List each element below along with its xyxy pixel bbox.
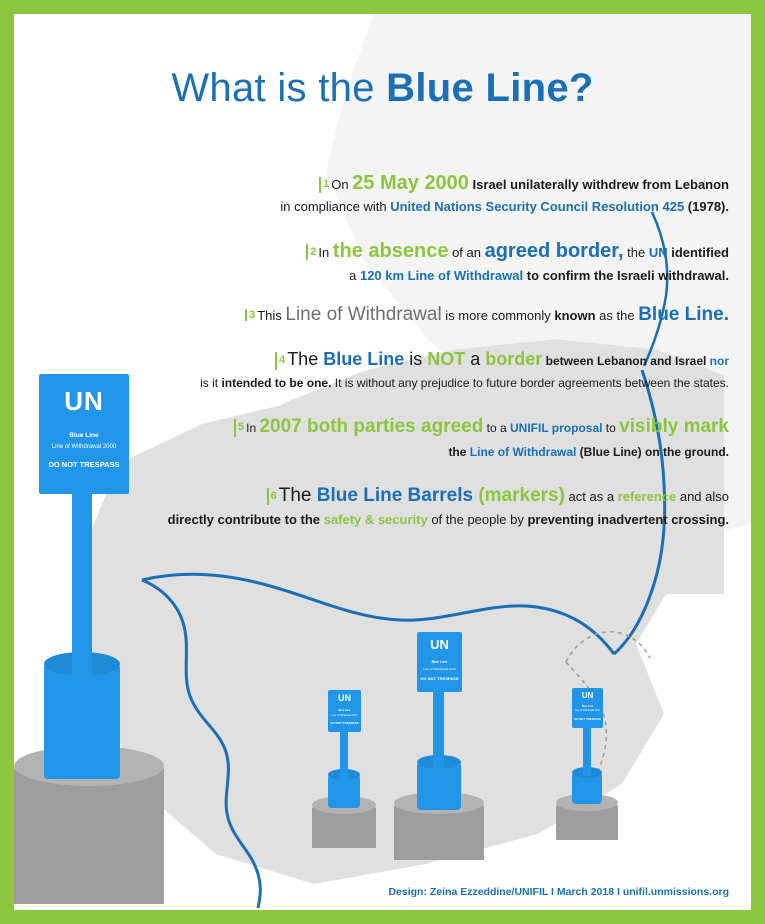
fact-3-a: This [257,308,285,323]
fact-number-5: 5 [234,419,244,437]
barrel-small-right-line3: DO NOT TRESPASS [572,717,603,721]
barrel-large-un-label: UN [39,386,129,417]
fact-6-preventing: preventing inadvertent crossing. [527,512,729,527]
barrel-large-sign: UN Blue Line Line of Withdrawal 2000 DO … [39,374,129,494]
fact-4-line1-a: The [287,349,323,369]
fact-6-line1-b: act as a [565,489,618,504]
fact-4-nor: nor [710,354,729,368]
barrel-small-left-un-label: UN [328,693,361,703]
fact-1-line2-b: (1978). [684,199,729,214]
fact-6-barrels: Blue Line Barrels [317,485,473,506]
fact-5-agreement: 2007 both parties agreed [259,416,483,437]
fact-4-not: NOT [427,349,465,369]
fact-number-4: 4 [275,352,285,370]
barrel-large-line3: DO NOT TRESPASS [39,460,129,469]
fact-4-blue-line: Blue Line [323,349,404,369]
fact-1-resolution: United Nations Security Council Resoluti… [390,199,684,214]
fact-item-1: 1On 25 May 2000 Israel unilaterally with… [164,169,729,217]
barrel-small-right-line2: Line of Withdrawal 2000 [572,710,603,712]
fact-5-line1-b: to a [483,421,510,435]
barrel-small-left-line1: Blue Line [328,709,361,712]
barrel-medium-drum [417,762,461,810]
barrel-large-line2: Line of Withdrawal 2000 [39,444,129,450]
fact-3-c: as the [596,308,639,323]
fact-item-4: 4The Blue Line is NOT a border between L… [164,345,729,393]
fact-2-absence: the absence [333,240,449,262]
barrel-small-right-un-label: UN [572,691,603,700]
fact-item-5: 5In 2007 both parties agreed to a UNIFIL… [164,412,729,462]
fact-5-line1-a: In [246,421,259,435]
barrel-small-left-line2: Line of Withdrawal 2000 [328,714,361,717]
fact-3-known: known [554,308,595,323]
barrel-small-right: UN Blue Line Line of Withdrawal 2000 DO … [544,674,634,854]
fact-3-line-of-withdrawal: Line of Withdrawal [285,304,441,325]
fact-4-border: border [485,349,542,369]
fact-item-6: 6The Blue Line Barrels (markers) act as … [164,481,729,531]
poster-canvas: What is the Blue Line? 1On 25 May 2000 I… [14,14,751,910]
barrel-medium: UN Blue Line Line of Withdrawal 2000 DO … [384,614,494,864]
fact-6-line1-c: and also [676,489,729,504]
fact-6-line2-b: of the people by [428,512,528,527]
page-title: What is the Blue Line? [14,66,751,111]
barrel-large: UN Blue Line Line of Withdrawal 2000 DO … [14,364,184,904]
fact-4-line1-c: a [465,349,485,369]
fact-list: 1On 25 May 2000 Israel unilaterally with… [164,169,729,549]
fact-6-line2-a: directly contribute to the [168,512,324,527]
fact-1-date: 25 May 2000 [352,172,469,194]
fact-5-line-of-withdrawal: Line of Withdrawal [470,445,577,459]
barrel-medium-post [433,684,444,769]
fact-number-2: 2 [306,244,316,261]
fact-5-visibly-mark: visibly mark [619,416,729,437]
fact-2-distance: 120 km Line of Withdrawal [360,268,523,283]
barrel-medium-line2: Line of Withdrawal 2000 [417,667,462,671]
fact-2-agreed-border: agreed border, [485,240,624,262]
fact-6-markers: (markers) [478,485,565,506]
fact-5-line2-a: the [448,445,469,459]
fact-4-line1-b: is [404,349,427,369]
barrel-small-right-post [583,726,591,776]
fact-2-line1-c: the [624,245,649,260]
barrel-small-left: UN Blue Line Line of Withdrawal 2000 DO … [304,676,384,866]
fact-2-line1-b: of an [448,245,484,260]
barrel-small-left-line3: DO NOT TRESPASS [328,721,361,725]
fact-2-un: UN [649,245,668,260]
fact-6-reference: reference [618,489,677,504]
fact-1-line2-a: in compliance with [280,199,390,214]
barrel-small-left-sign: UN Blue Line Line of Withdrawal 2000 DO … [328,690,361,732]
barrel-medium-line1: Blue Line [417,660,462,664]
fact-4-line2-a: is it [200,376,221,390]
barrel-small-right-line1: Blue Line [572,705,603,708]
fact-2-line2-a: a [349,268,360,283]
barrel-medium-line3: DO NOT TRESPASS [417,676,462,681]
fact-2-line1-d: identified [668,245,729,260]
fact-5-unifil-proposal: UNIFIL proposal [510,421,602,435]
fact-5-line2-b: (Blue Line) on the ground. [576,445,729,459]
fact-number-3: 3 [245,309,255,321]
fact-6-safety: safety & security [324,512,428,527]
barrel-large-drum [44,664,120,779]
barrel-large-line1: Blue Line [39,432,129,439]
barrel-small-left-post [340,728,348,780]
barrel-medium-sign: UN Blue Line Line of Withdrawal 2000 DO … [417,632,462,692]
fact-4-intended: intended to be one. [221,376,331,390]
fact-2-line2-b: to confirm the Israeli withdrawal. [523,268,729,283]
fact-1-line1-b: Israel unilaterally withdrew from Lebano… [469,177,729,192]
fact-4-line2-b: It is without any prejudice to future bo… [331,376,729,390]
fact-6-line1-a: The [279,485,317,506]
barrel-small-right-sign: UN Blue Line Line of Withdrawal 2000 DO … [572,688,603,728]
fact-1-line1-a: On [331,177,352,192]
credit-line: Design: Zeina Ezzeddine/UNIFIL I March 2… [388,886,729,898]
title-plain: What is the [171,66,386,110]
fact-item-2: 2In the absence of an agreed border, the… [164,236,729,286]
fact-number-1: 1 [319,177,329,193]
fact-3-b: is more commonly [442,308,555,323]
title-bold: Blue Line? [386,66,593,110]
barrel-large-post [72,482,92,677]
fact-item-3: 3This Line of Withdrawal is more commonl… [164,304,729,326]
fact-5-line1-c: to [602,421,619,435]
fact-number-6: 6 [267,488,277,505]
fact-2-line1-a: In [318,245,332,260]
fact-4-line1-d: between Lebanon and Israel [542,354,709,368]
fact-3-blue-line: Blue Line. [638,304,729,325]
barrel-medium-un-label: UN [417,637,462,652]
